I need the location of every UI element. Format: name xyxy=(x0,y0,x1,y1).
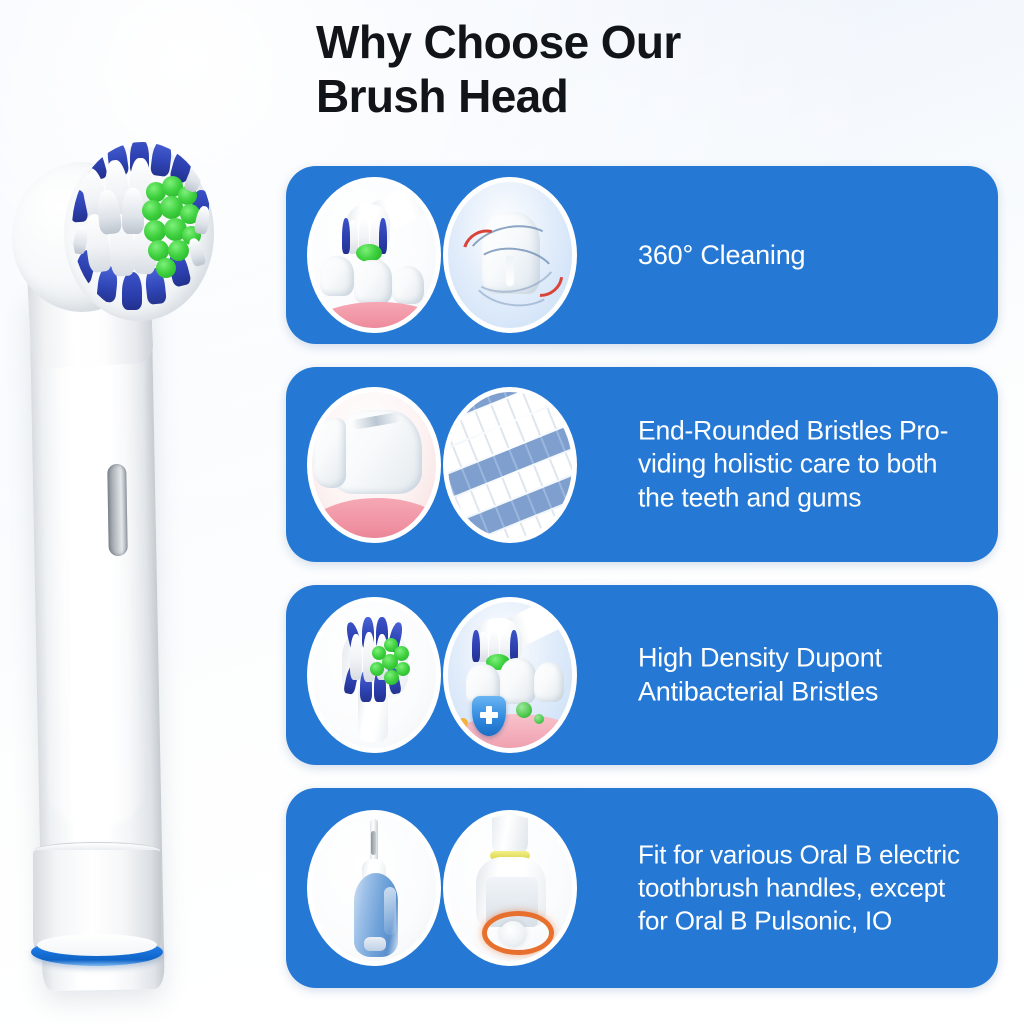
feature-thumbnails xyxy=(312,182,572,328)
feature-card-360-cleaning[interactable]: 360° Cleaning xyxy=(286,166,998,344)
tooth-360-arrows-thumbnail xyxy=(448,182,572,328)
brush-shaft-highlight xyxy=(44,288,148,828)
brush-base-inner-face xyxy=(37,934,157,956)
power-button-icon xyxy=(500,921,526,947)
feature-card-high-density-bristles[interactable]: High Density Dupont Antibacterial Bristl… xyxy=(286,585,998,765)
infographic-page: Why Choose Our Brush Head xyxy=(0,0,1024,1024)
blue-oral-b-handle-thumbnail xyxy=(312,815,436,961)
feature-card-text: Fit for various Oral B electric toothbru… xyxy=(638,838,1004,937)
rounded-bristle-tips-thumbnail xyxy=(448,392,572,538)
brush-shaft-slot xyxy=(107,464,128,556)
feature-card-text: High Density Dupont Antibacterial Bristl… xyxy=(638,641,990,710)
brush-head-front-thumbnail xyxy=(312,602,436,748)
feature-card-end-rounded-bristles[interactable]: End-Rounded Bristles Pro- viding holisti… xyxy=(286,367,998,562)
antibacterial-shield-brushing-thumbnail xyxy=(448,602,572,748)
handle-attachment-closeup-thumbnail xyxy=(448,815,572,961)
feature-thumbnails xyxy=(312,392,572,538)
tooth-and-gum-closeup-thumbnail xyxy=(312,392,436,538)
brush-bristle-field xyxy=(72,142,212,314)
feature-thumbnails xyxy=(312,815,572,961)
feature-card-text: End-Rounded Bristles Pro- viding holisti… xyxy=(638,414,990,515)
page-title: Why Choose Our Brush Head xyxy=(316,16,876,124)
feature-card-text: 360° Cleaning xyxy=(638,238,990,272)
feature-thumbnails xyxy=(312,602,572,748)
brush-head-on-teeth-thumbnail xyxy=(312,182,436,328)
feature-card-compatibility[interactable]: Fit for various Oral B electric toothbru… xyxy=(286,788,998,988)
product-brush-head-image xyxy=(0,120,290,1010)
